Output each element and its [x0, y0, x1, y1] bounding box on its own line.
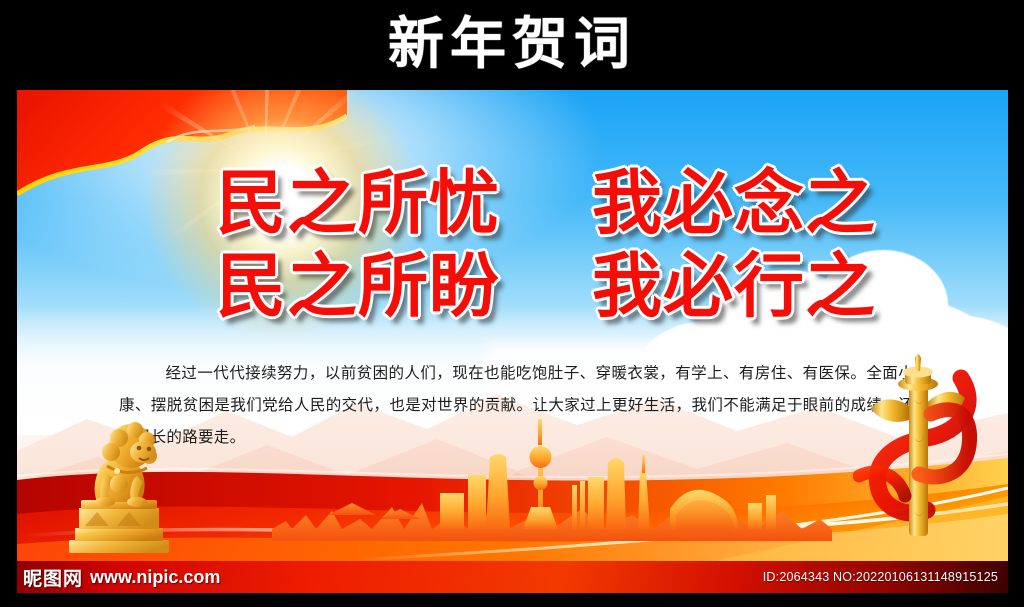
headline-line-1: 民之所忧 我必念之	[216, 162, 876, 245]
headline-line1-left: 民之所忧	[216, 162, 500, 245]
bottom-black-bar	[0, 593, 1024, 607]
huabiao-column-icon	[853, 350, 983, 545]
watermark-footer: 昵图网 www.nipic.com ID:2064343 NO:20220106…	[17, 561, 1008, 593]
page-title: 新年贺词	[388, 17, 636, 73]
headline-line2-right: 我必行之	[592, 245, 876, 328]
screenshot-canvas: 新年贺词	[0, 0, 1024, 607]
headline-block: 民之所忧 我必念之 民之所盼 我必行之	[216, 162, 876, 327]
guardian-lion-statue-icon	[49, 408, 189, 558]
title-bar: 新年贺词	[0, 0, 1024, 90]
poster-artboard: 民之所忧 我必念之 民之所盼 我必行之 经过一代代接续努力，以前贫困的人们，现在…	[17, 90, 1008, 593]
headline-line1-right: 我必念之	[592, 162, 876, 245]
watermark-brand-cn: 昵图网	[23, 564, 83, 591]
image-id-text: ID:2064343 NO:20220106131148915125	[763, 570, 1008, 584]
body-paragraph: 经过一代代接续努力，以前贫困的人们，现在也能吃饱肚子、穿暖衣裳，有学上、有房住、…	[119, 358, 914, 453]
watermark-url: www.nipic.com	[90, 567, 220, 588]
watermark-brand: 昵图网 www.nipic.com	[17, 564, 220, 591]
headline-line-2: 民之所盼 我必行之	[216, 245, 876, 328]
headline-line2-left: 民之所盼	[216, 245, 500, 328]
